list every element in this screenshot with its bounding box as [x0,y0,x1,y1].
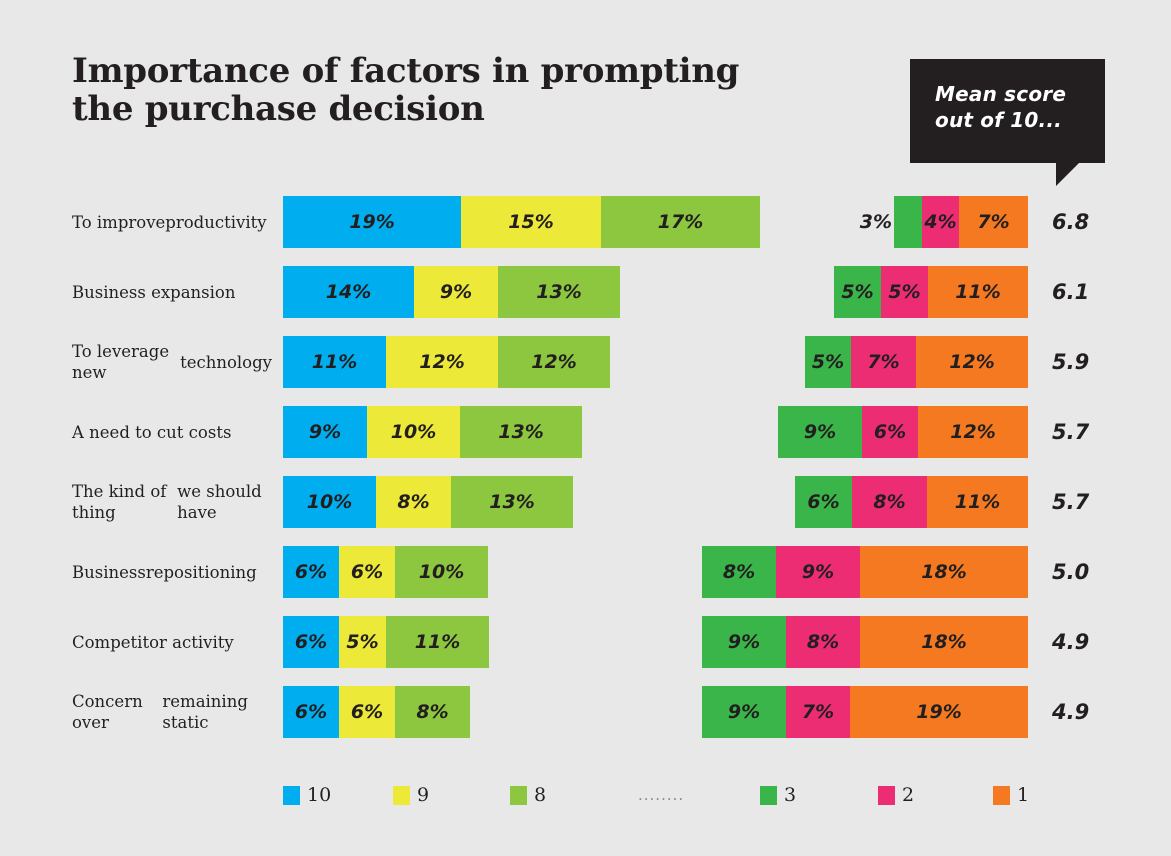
bar-segment-value-label: 9% [728,631,760,653]
legend-item-3[interactable]: 3 [760,782,796,808]
bar-segment-score-8: 10% [395,546,488,598]
bar-segment-score-3: 5% [805,336,851,388]
legend-swatch-icon [510,786,527,805]
bar-segment-score-3: 9% [702,616,786,668]
bar-segment-score-1: 19% [850,686,1028,738]
bar-segment-value-label: 6% [874,421,906,443]
bar-segment-score-1: 18% [860,546,1028,598]
bar-segment-value-label: 12% [419,351,464,373]
bar-segment-value-label: 19% [349,211,394,233]
bar-segment-score-3: 9% [778,406,862,458]
row-category-label-text: Competitor activity [72,632,234,653]
bar-segment-score-9: 8% [376,476,451,528]
row-category-label: Business expansion [72,266,272,318]
bar-segment-score-1: 7% [959,196,1028,248]
row-category-label: To improveproductivity [72,196,272,248]
bar-segment-value-label: 8% [807,631,839,653]
bar-segment-value-label: 9% [309,421,341,443]
bar-segment-score-3: 6% [795,476,852,528]
bar-segment-score-9: 6% [339,686,395,738]
legend-item-label: 2 [902,784,914,806]
bar-segment-score-1: 11% [928,266,1028,318]
bar-segment-score-3: 9% [702,686,786,738]
bar-segment-value-label: 9% [440,281,472,303]
mean-score-callout: Mean score out of 10... [910,59,1105,163]
bar-segment-score-8: 13% [451,476,573,528]
row-category-label-text-2: repositioning [146,562,257,583]
bar-segment-value-label: 15% [508,211,553,233]
stacked-bar-left: 6%6%10% [283,546,488,598]
bar-segment-score-2: 7% [786,686,850,738]
row-category-label: The kind of thingwe should have [72,476,272,528]
bar-segment-value-label: 5% [888,281,920,303]
bar-segment-value-label: 8% [723,561,755,583]
row-mean-score: 4.9 [1052,616,1122,668]
bar-segment-value-label: 13% [489,491,534,513]
bar-segment-score-8: 13% [498,266,620,318]
bar-segment-score-2: 8% [786,616,860,668]
row-category-label-text-2: technology [180,352,272,373]
stacked-bar-left: 11%12%12% [283,336,610,388]
chart-row: Business expansion14%9%13%5%5%11%6.1 [0,266,1171,318]
stacked-bar-right: 9%8%18% [702,616,1028,668]
bar-segment-value-label: 6% [295,701,327,723]
legend-swatch-icon [393,786,410,805]
bar-segment-score-10: 9% [283,406,367,458]
row-category-label: To leverage newtechnology [72,336,272,388]
bar-segment-score-10: 6% [283,546,339,598]
bar-segment-score-8: 8% [395,686,470,738]
bar-segment-value-label: 9% [804,421,836,443]
bar-segment-score-3: 8% [702,546,776,598]
bar-segment-value-label: 9% [802,561,834,583]
bar-segment-score-3: 3% [894,196,922,248]
chart-row: Competitor activity6%5%11%9%8%18%4.9 [0,616,1171,668]
stacked-bar-left: 6%5%11% [283,616,489,668]
bar-segment-score-10: 11% [283,336,386,388]
bar-segment-value-label: 12% [950,421,995,443]
legend-item-label: 1 [1017,784,1029,806]
bar-segment-value-label: 18% [921,631,966,653]
bar-segment-score-2: 4% [922,196,959,248]
bar-segment-score-10: 6% [283,686,339,738]
bar-segment-value-label: 7% [802,701,834,723]
row-category-label-text: To improve [72,212,165,233]
legend-item-1[interactable]: 1 [993,782,1029,808]
page-title-line-2: the purchase decision [72,90,772,128]
bar-segment-value-label: 11% [415,631,460,653]
row-category-label-text-2: we should have [177,481,272,523]
row-category-label-text: To leverage new [72,341,180,383]
row-category-label-text: Business expansion [72,282,235,303]
legend-item-2[interactable]: 2 [878,782,914,808]
stacked-bar-left: 9%10%13% [283,406,582,458]
bar-segment-score-9: 6% [339,546,395,598]
bar-segment-score-10: 14% [283,266,414,318]
page-title-line-1: Importance of factors in prompting [72,51,739,91]
bar-segment-score-9: 5% [339,616,386,668]
stacked-bar-right: 9%7%19% [702,686,1028,738]
chart-row: The kind of thingwe should have10%8%13%6… [0,476,1171,528]
bar-segment-score-3: 5% [834,266,881,318]
row-mean-score: 5.7 [1052,406,1122,458]
chart-row: A need to cut costs9%10%13%9%6%12%5.7 [0,406,1171,458]
legend-item-label: 8 [534,784,546,806]
mean-score-callout-text: Mean score out of 10... [935,81,1095,133]
stacked-bar-right: 8%9%18% [702,546,1028,598]
bar-segment-value-label: 11% [312,351,357,373]
mean-score-callout-line-2: out of 10... [935,108,1062,132]
bar-segment-value-label: 8% [397,491,429,513]
legend-swatch-icon [878,786,895,805]
bar-segment-value-label: 7% [977,211,1009,233]
legend-item-9[interactable]: 9 [393,782,429,808]
bar-segment-score-2: 8% [852,476,927,528]
row-category-label-text: Business [72,562,146,583]
bar-segment-value-label: 5% [346,631,378,653]
bar-segment-score-1: 12% [918,406,1028,458]
row-mean-score: 4.9 [1052,686,1122,738]
bar-segment-value-label: 6% [807,491,839,513]
legend-gap-ellipsis: ........ [638,782,684,808]
bar-segment-value-label: 12% [531,351,576,373]
bar-segment-score-1: 12% [916,336,1028,388]
stacked-bar-right: 3%4%7% [894,196,1028,248]
chart-row: To improveproductivity19%15%17%3%4%7%6.8 [0,196,1171,248]
bar-segment-score-8: 11% [386,616,489,668]
legend-swatch-icon [283,786,300,805]
stacked-bar-right: 5%5%11% [834,266,1028,318]
bar-segment-value-label: 6% [351,561,383,583]
bar-segment-value-label: 7% [867,351,899,373]
row-mean-score: 5.9 [1052,336,1122,388]
row-category-label: A need to cut costs [72,406,272,458]
stacked-bar-left: 10%8%13% [283,476,573,528]
bar-segment-value-label: 14% [326,281,371,303]
page-title: Importance of factors in prompting the p… [72,52,772,128]
bar-segment-score-2: 7% [851,336,916,388]
row-mean-score: 5.0 [1052,546,1122,598]
stacked-bar-left: 6%6%8% [283,686,470,738]
bar-segment-value-label: 12% [949,351,994,373]
bar-segment-value-label: 19% [916,701,961,723]
bar-segment-value-label: 13% [498,421,543,443]
callout-tail-icon [1056,162,1080,186]
bar-segment-value-label: 10% [391,421,436,443]
bar-segment-value-label: 11% [955,281,1000,303]
bar-segment-value-label: 6% [295,631,327,653]
bar-segment-value-label: 17% [658,211,703,233]
row-mean-score: 5.7 [1052,476,1122,528]
bar-segment-score-8: 17% [601,196,760,248]
stacked-bar-left: 14%9%13% [283,266,620,318]
row-category-label: Competitor activity [72,616,272,668]
bar-segment-score-8: 13% [460,406,582,458]
legend-item-label: 10 [307,784,331,806]
row-category-label-text: The kind of thing [72,481,177,523]
legend-item-label: 9 [417,784,429,806]
stacked-bar-right: 5%7%12% [805,336,1028,388]
row-mean-score: 6.8 [1052,196,1122,248]
bar-segment-value-label: 4% [924,211,956,233]
bar-segment-value-label: 11% [955,491,1000,513]
bar-segment-score-10: 6% [283,616,339,668]
row-category-label-text-2: productivity [165,212,266,233]
bar-segment-score-10: 10% [283,476,376,528]
chart-row: Businessrepositioning6%6%10%8%9%18%5.0 [0,546,1171,598]
bar-segment-score-10: 19% [283,196,461,248]
bar-segment-score-9: 15% [461,196,601,248]
chart-row: Concern overremaining static6%6%8%9%7%19… [0,686,1171,738]
bar-segment-score-9: 10% [367,406,460,458]
bar-segment-value-label: 13% [536,281,581,303]
bar-segment-value-label: 5% [841,281,873,303]
legend-item-10[interactable]: 10 [283,782,331,808]
bar-segment-value-label: 10% [307,491,352,513]
row-category-label-text: A need to cut costs [72,422,231,443]
bar-segment-value-label: 8% [416,701,448,723]
stacked-bar-left: 19%15%17% [283,196,760,248]
bar-segment-value-label: 3% [860,211,892,233]
bar-segment-value-label: 10% [419,561,464,583]
bar-segment-score-8: 12% [498,336,610,388]
mean-score-callout-line-1: Mean score [935,82,1066,106]
bar-segment-score-2: 6% [862,406,918,458]
bar-segment-score-9: 9% [414,266,498,318]
bar-segment-value-label: 6% [295,561,327,583]
stacked-bar-right: 9%6%12% [778,406,1028,458]
chart-legend: 1098321........ [0,782,1171,812]
bar-segment-score-1: 11% [927,476,1028,528]
bar-segment-score-9: 12% [386,336,498,388]
bar-segment-value-label: 6% [351,701,383,723]
legend-swatch-icon [993,786,1010,805]
legend-item-label: 3 [784,784,796,806]
bar-segment-value-label: 18% [921,561,966,583]
row-category-label: Concern overremaining static [72,686,272,738]
legend-item-8[interactable]: 8 [510,782,546,808]
legend-swatch-icon [760,786,777,805]
row-category-label: Businessrepositioning [72,546,272,598]
bar-segment-score-1: 18% [860,616,1028,668]
bar-segment-value-label: 5% [812,351,844,373]
row-category-label-text-2: remaining static [162,691,272,733]
stacked-bar-right: 6%8%11% [795,476,1028,528]
bar-segment-score-2: 5% [881,266,928,318]
infographic-canvas: Importance of factors in prompting the p… [0,0,1171,856]
bar-segment-score-2: 9% [776,546,860,598]
row-category-label-text: Concern over [72,691,162,733]
bar-segment-value-label: 8% [873,491,905,513]
row-mean-score: 6.1 [1052,266,1122,318]
bar-segment-value-label: 9% [728,701,760,723]
chart-row: To leverage newtechnology11%12%12%5%7%12… [0,336,1171,388]
